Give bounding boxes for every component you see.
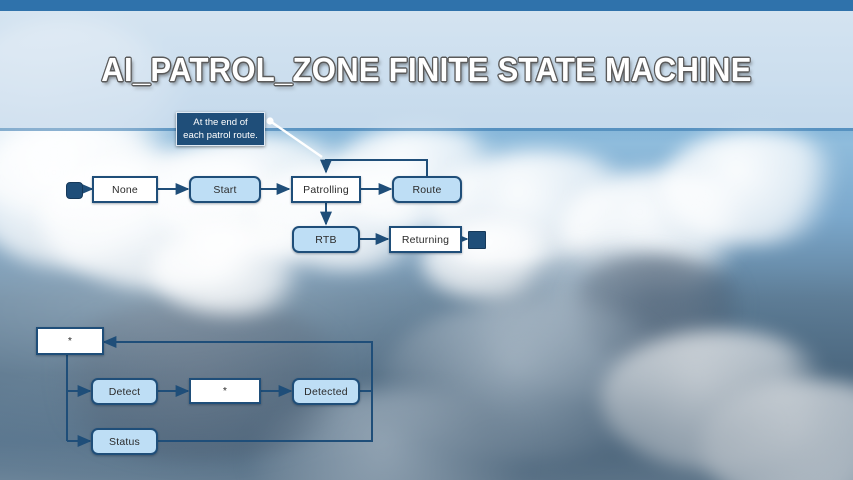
node-label: RTB bbox=[315, 234, 336, 246]
callout-leader-line bbox=[266, 117, 322, 157]
node-patrolling[interactable]: Patrolling bbox=[291, 176, 361, 203]
node-returning[interactable]: Returning bbox=[389, 226, 462, 253]
node-any-wildcard[interactable]: * bbox=[36, 327, 104, 355]
node-status[interactable]: Status bbox=[91, 428, 158, 455]
node-label: None bbox=[112, 184, 138, 196]
slide-canvas: AI_PATROL_ZONE FINITE STATE MACHINE bbox=[0, 0, 853, 480]
node-detect[interactable]: Detect bbox=[91, 378, 158, 405]
node-label: Detected bbox=[304, 386, 348, 398]
callout-line-1: At the end of bbox=[183, 116, 258, 129]
node-detected[interactable]: Detected bbox=[292, 378, 360, 405]
node-label: Start bbox=[213, 184, 236, 196]
callout-note[interactable]: At the end of each patrol route. bbox=[176, 112, 265, 146]
callout-line-2: each patrol route. bbox=[183, 129, 258, 142]
node-start[interactable]: Start bbox=[189, 176, 261, 203]
node-none[interactable]: None bbox=[92, 176, 158, 203]
node-any2-wildcard[interactable]: * bbox=[189, 378, 261, 404]
node-label: * bbox=[68, 335, 72, 347]
node-label: Route bbox=[412, 184, 441, 196]
node-label: Returning bbox=[402, 234, 449, 246]
node-label: Detect bbox=[109, 386, 141, 398]
node-rtb[interactable]: RTB bbox=[292, 226, 360, 253]
node-label: Status bbox=[109, 436, 140, 448]
node-label: Patrolling bbox=[303, 184, 349, 196]
start-marker bbox=[66, 182, 83, 199]
end-marker bbox=[468, 231, 486, 249]
node-route[interactable]: Route bbox=[392, 176, 462, 203]
node-label: * bbox=[223, 385, 227, 397]
edge-route-patrolling-loopback bbox=[326, 160, 427, 176]
